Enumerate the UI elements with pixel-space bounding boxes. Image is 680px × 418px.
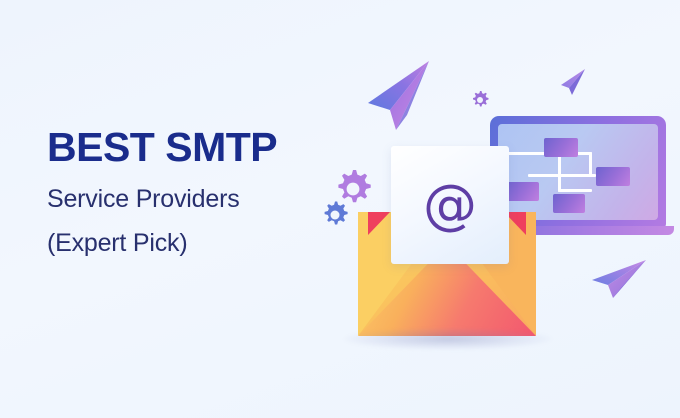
smtp-banner: BEST SMTP Service Providers (Expert Pick… [0,0,680,418]
paper-plane-icon [560,68,586,96]
paper-plane-icon [366,58,432,132]
letter-card: @ [391,146,509,264]
at-symbol-icon: @ [391,178,509,232]
gear-icon [332,168,374,210]
paper-plane-icon [590,258,648,300]
email-illustration: @ [318,36,666,384]
page-title: BEST SMTP [47,127,337,169]
subtitle-line-2: (Expert Pick) [47,231,337,256]
flowchart-node [506,182,539,201]
subtitle-line-1: Service Providers [47,187,337,212]
laptop-screen [498,124,658,220]
flowchart-wire [558,189,592,192]
flowchart-node [553,194,585,213]
drop-shadow [344,328,552,350]
headline-block: BEST SMTP Service Providers (Expert Pick… [47,127,337,256]
flowchart-node [544,138,578,157]
flowchart-wire [528,174,596,177]
flowchart-node [596,167,630,186]
flowchart-wire [589,152,592,176]
gear-icon [470,90,490,110]
envelope-accent [368,212,390,235]
